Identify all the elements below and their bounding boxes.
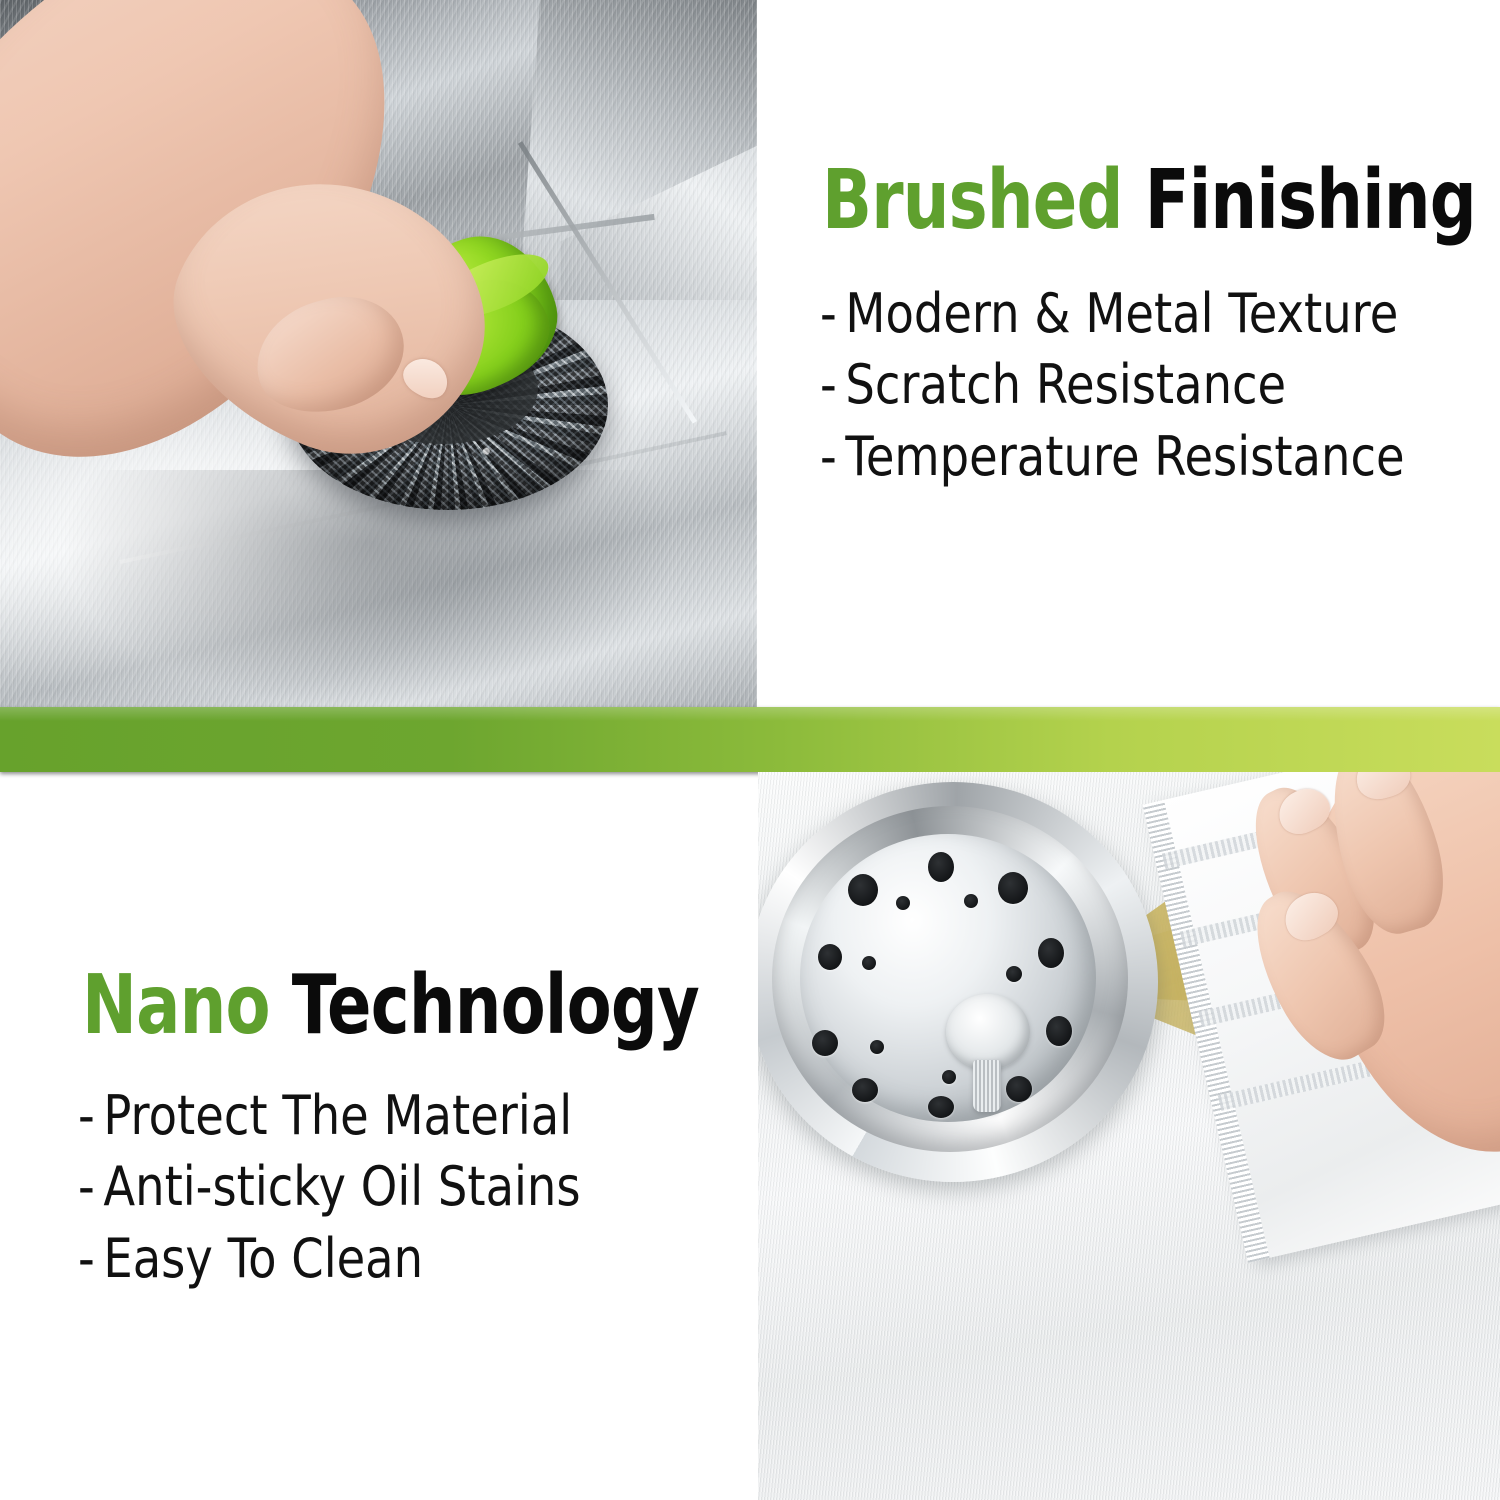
nano-title-black: Technology: [292, 958, 699, 1053]
bullet-dash: -: [78, 1080, 103, 1151]
bullet-text: Temperature Resistance: [845, 425, 1404, 488]
nano-feature-list: -Protect The Material -Anti-sticky Oil S…: [78, 1080, 662, 1294]
brushed-finishing-title: Brushed Finishing: [822, 160, 1476, 242]
list-item: -Temperature Resistance: [820, 421, 1405, 492]
strainer-hole: [1038, 938, 1064, 968]
bullet-text: Anti-sticky Oil Stains: [103, 1155, 580, 1218]
infographic-canvas: Brushed Finishing -Modern & Metal Textur…: [0, 0, 1500, 1500]
list-item: -Modern & Metal Texture: [820, 278, 1405, 349]
bullet-dash: -: [820, 349, 845, 420]
brushed-title-green: Brushed: [822, 153, 1123, 248]
strainer-hole-small: [870, 1040, 884, 1054]
strainer-hole: [928, 852, 954, 882]
strainer-hole-small: [862, 956, 876, 970]
strainer-hole: [1046, 1016, 1072, 1046]
strainer-hole-small: [964, 894, 978, 908]
bullet-text: Modern & Metal Texture: [845, 282, 1398, 345]
list-item: -Protect The Material: [78, 1080, 581, 1151]
nano-technology-title: Nano Technology: [82, 965, 699, 1047]
bullet-text: Protect The Material: [103, 1084, 572, 1147]
nano-title-green: Nano: [82, 958, 270, 1053]
strainer-knob: [946, 994, 1030, 1070]
strainer-hole: [852, 1078, 878, 1102]
bullet-dash: -: [78, 1223, 103, 1294]
strainer-hole-small: [896, 896, 910, 910]
strainer-hole-small: [942, 1070, 956, 1084]
brushed-feature-list: -Modern & Metal Texture -Scratch Resista…: [820, 278, 1500, 492]
strainer-hole: [998, 872, 1028, 904]
sink-shadow: [60, 470, 680, 708]
divider-highlight: [0, 707, 1500, 721]
photo-drain-and-wipe: [758, 772, 1500, 1500]
strainer-stem: [973, 1060, 1001, 1112]
list-item: -Anti-sticky Oil Stains: [78, 1151, 581, 1222]
strainer-hole: [812, 1030, 838, 1056]
strainer-hole: [928, 1096, 954, 1118]
drain-strainer-basket: [800, 834, 1096, 1122]
bullet-dash: -: [820, 278, 845, 349]
strainer-hole: [1006, 1076, 1032, 1102]
strainer-hole-small: [1006, 966, 1022, 982]
bullet-dash: -: [78, 1151, 103, 1222]
photo-sink-scrubbing: [0, 0, 757, 708]
strainer-hole: [818, 944, 842, 970]
bullet-dash: -: [820, 421, 845, 492]
green-divider-bar: [0, 707, 1500, 772]
list-item: -Scratch Resistance: [820, 349, 1405, 420]
bullet-text: Easy To Clean: [103, 1227, 423, 1290]
bullet-text: Scratch Resistance: [845, 353, 1286, 416]
strainer-hole: [848, 874, 878, 906]
brushed-title-black: Finishing: [1145, 153, 1476, 248]
list-item: -Easy To Clean: [78, 1223, 581, 1294]
